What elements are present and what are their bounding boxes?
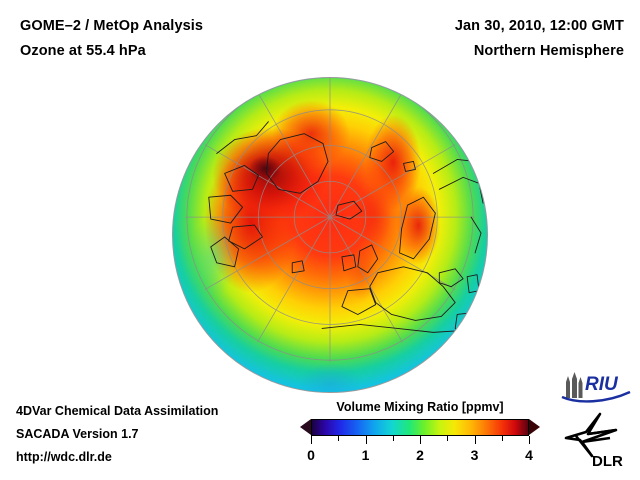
riu-logo-text: RIU bbox=[585, 374, 619, 395]
analysis-subtitle: Ozone at 55.4 hPa bbox=[20, 39, 203, 64]
timestamp-label: Jan 30, 2010, 12:00 GMT bbox=[455, 14, 624, 39]
colorbar-strip bbox=[300, 419, 540, 436]
footer-credits: 4DVar Chemical Data Assimilation SACADA … bbox=[16, 400, 218, 469]
website-link[interactable]: http://wdc.dlr.de bbox=[16, 446, 218, 469]
colorbar-low-extend-arrow bbox=[300, 419, 311, 435]
colorbar-major-tick bbox=[529, 436, 530, 444]
colorbar-minor-tick bbox=[502, 436, 503, 441]
method-label: 4DVar Chemical Data Assimilation bbox=[16, 400, 218, 423]
header-right-block: Jan 30, 2010, 12:00 GMT Northern Hemisph… bbox=[455, 14, 624, 64]
hemisphere-label: Northern Hemisphere bbox=[455, 39, 624, 64]
version-label: SACADA Version 1.7 bbox=[16, 423, 218, 446]
colorbar-gradient bbox=[311, 419, 529, 436]
globe-disc bbox=[172, 77, 488, 393]
riu-logo: RIU bbox=[560, 370, 634, 406]
analysis-title: GOME–2 / MetOp Analysis bbox=[20, 14, 203, 39]
colorbar-major-tick bbox=[475, 436, 476, 444]
header-left-block: GOME–2 / MetOp Analysis Ozone at 55.4 hP… bbox=[20, 14, 203, 64]
colorbar-minor-tick bbox=[338, 436, 339, 441]
colorbar-minor-tick bbox=[393, 436, 394, 441]
colorbar-tick-label: 4 bbox=[525, 447, 533, 463]
dlr-mark-icon bbox=[566, 414, 616, 456]
colorbar-ticks bbox=[311, 436, 529, 446]
colorbar-title: Volume Mixing Ratio [ppmv] bbox=[300, 400, 540, 414]
colorbar-minor-tick bbox=[447, 436, 448, 441]
riu-towers-icon bbox=[566, 372, 583, 398]
colorbar-tick-label: 0 bbox=[307, 447, 315, 463]
dlr-logo-text: DLR bbox=[592, 453, 623, 470]
globe-map bbox=[172, 77, 488, 393]
dlr-logo: DLR bbox=[562, 412, 636, 470]
colorbar-tick-label: 1 bbox=[362, 447, 370, 463]
colorbar-major-tick bbox=[311, 436, 312, 444]
colorbar-tick-label: 2 bbox=[416, 447, 424, 463]
colorbar: Volume Mixing Ratio [ppmv] 01234 bbox=[300, 400, 540, 465]
colorbar-tick-label: 3 bbox=[471, 447, 479, 463]
colorbar-high-extend-arrow bbox=[529, 419, 540, 435]
colorbar-tick-labels: 01234 bbox=[311, 447, 529, 465]
globe-limb-shading bbox=[172, 77, 488, 393]
colorbar-major-tick bbox=[420, 436, 421, 444]
colorbar-major-tick bbox=[366, 436, 367, 444]
